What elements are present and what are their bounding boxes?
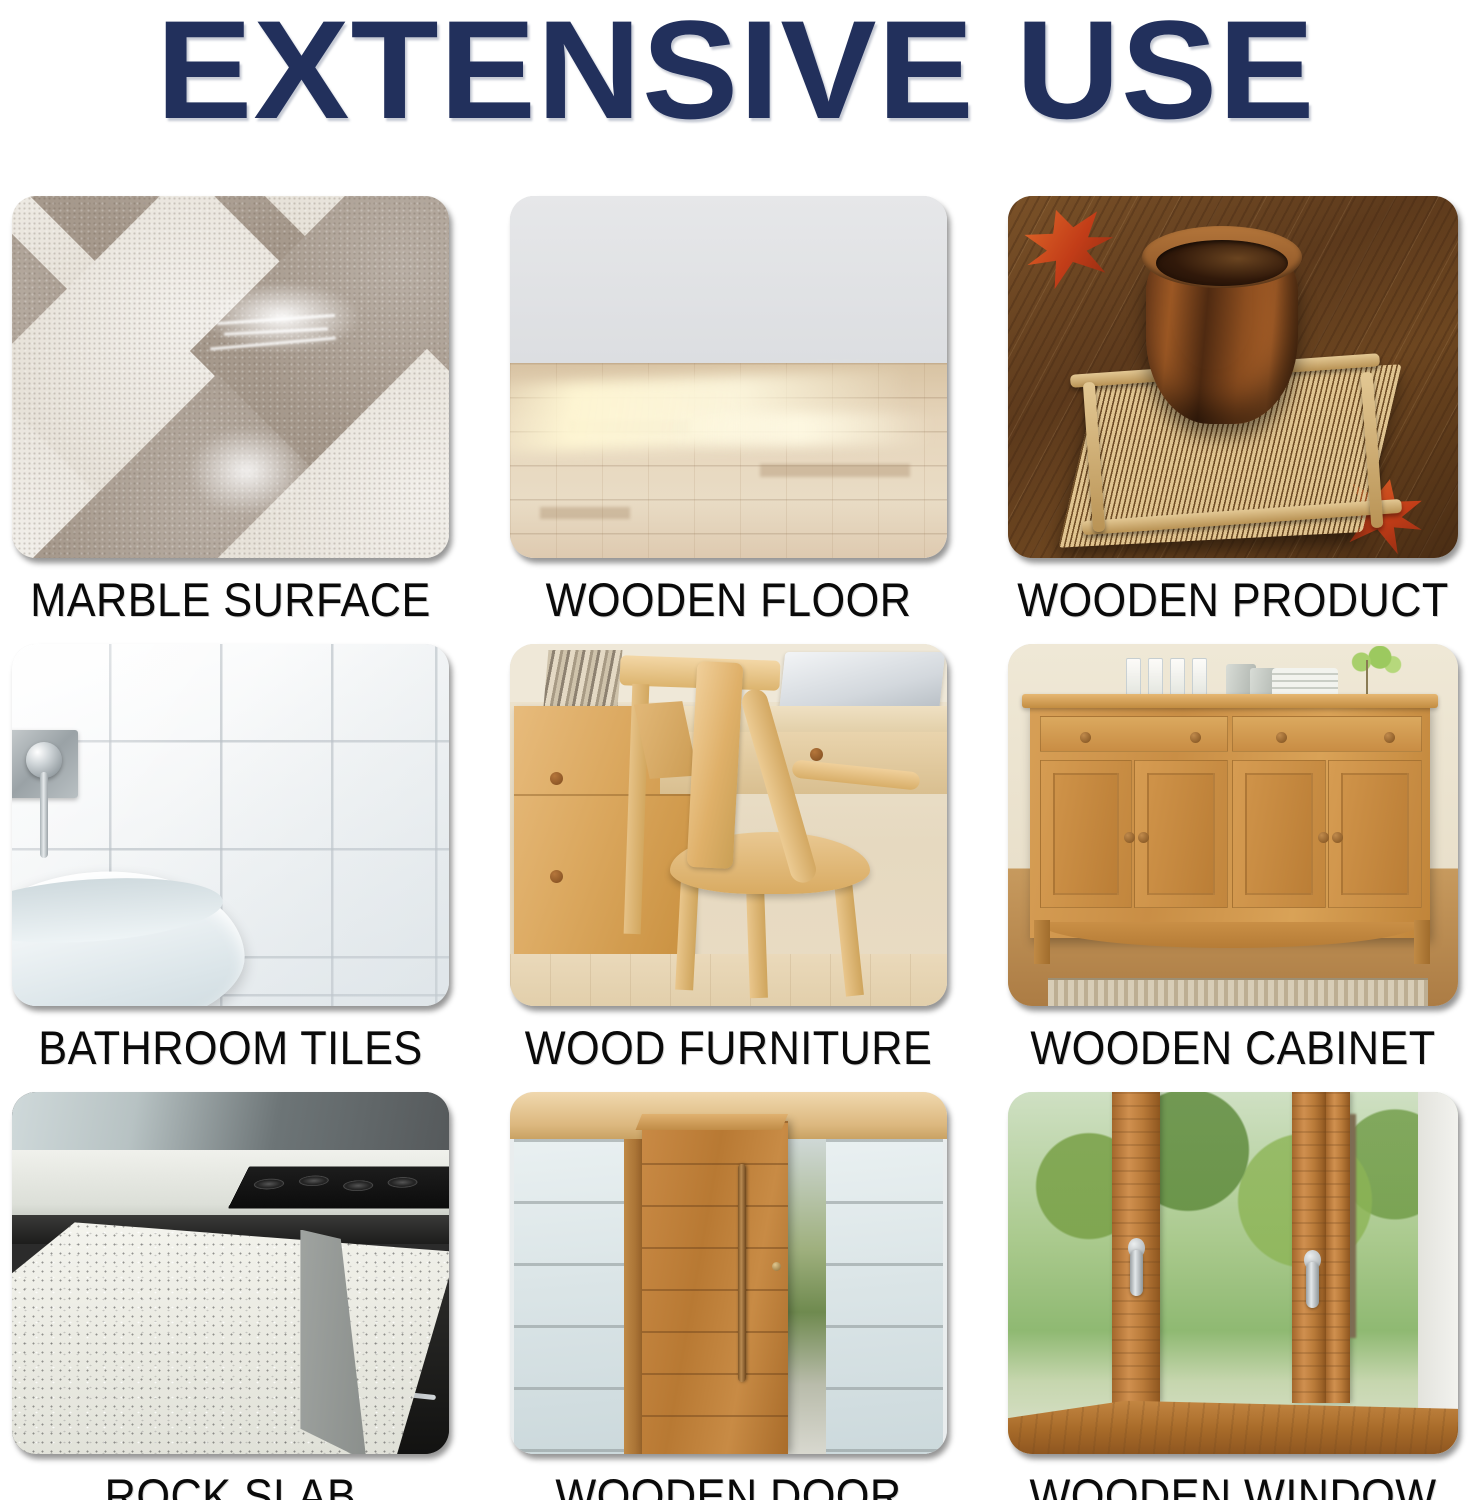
door-handle-bar bbox=[738, 1164, 746, 1381]
quartz-island-slab bbox=[12, 1222, 449, 1454]
plant-foliage bbox=[1344, 646, 1402, 678]
wooden-product-photo bbox=[1008, 196, 1458, 558]
wooden-door-panel bbox=[642, 1121, 788, 1454]
image-tile-wooden-door[interactable] bbox=[510, 1092, 947, 1454]
grid-cell-bathroom-tiles: BATHROOM TILES bbox=[12, 644, 449, 1076]
frosted-sidelight-left bbox=[514, 1139, 624, 1454]
infographic-page: EXTENSIVE USE bbox=[0, 0, 1471, 1500]
wall-surface bbox=[510, 196, 947, 363]
caption-wooden-product: WOODEN PRODUCT bbox=[1026, 570, 1440, 628]
outdoor-garden-view bbox=[1008, 1092, 1458, 1454]
door-top-edge bbox=[636, 1114, 788, 1130]
grid-cell-wooden-cabinet: WOODEN CABINET bbox=[1008, 644, 1458, 1076]
gas-cooktop bbox=[228, 1166, 449, 1208]
door-jamb-left bbox=[624, 1139, 644, 1454]
image-tile-wood-furniture[interactable] bbox=[510, 644, 947, 1006]
grid-cell-wood-furniture: WOOD FURNITURE bbox=[510, 644, 947, 1076]
frosted-sidelight-right bbox=[825, 1139, 943, 1454]
image-tile-wooden-window[interactable] bbox=[1008, 1092, 1458, 1454]
caption-wooden-cabinet: WOODEN CABINET bbox=[1026, 1018, 1440, 1076]
image-tile-marble-surface[interactable] bbox=[12, 196, 449, 558]
grid-cell-rock-slab: ROCK SLAB bbox=[12, 1092, 449, 1500]
image-tile-wooden-cabinet[interactable] bbox=[1008, 644, 1458, 1006]
wooden-cabinet-photo bbox=[1008, 644, 1458, 1006]
marble-floor-photo bbox=[12, 196, 449, 558]
grid-cell-wooden-window: WOODEN WINDOW bbox=[1008, 1092, 1458, 1500]
cup-liquid bbox=[1156, 240, 1288, 286]
grid-cell-marble-surface: MARBLE SURFACE bbox=[12, 196, 449, 628]
caption-wooden-window: WOODEN WINDOW bbox=[1026, 1466, 1440, 1500]
use-case-grid: MARBLE SURFACE WOODEN FLOOR bbox=[12, 196, 1459, 1500]
caption-wooden-floor: WOODEN FLOOR bbox=[527, 570, 929, 628]
interior-wall-strip bbox=[1418, 1092, 1459, 1454]
bathroom-tiles-photo bbox=[12, 644, 449, 1006]
cabinet-top-surface bbox=[1022, 694, 1438, 708]
window-frame-mullion-center bbox=[1292, 1092, 1326, 1403]
marble-highlight-lower bbox=[187, 426, 307, 516]
books-stack bbox=[544, 650, 623, 706]
caption-bathroom-tiles: BATHROOM TILES bbox=[29, 1018, 431, 1076]
wood-furniture-photo bbox=[510, 644, 947, 1006]
room-floor bbox=[510, 954, 947, 1006]
quartz-speckle-texture bbox=[12, 1222, 449, 1454]
cabinet-apron bbox=[1038, 922, 1422, 948]
grid-cell-wooden-product: WOODEN PRODUCT bbox=[1008, 196, 1458, 628]
caption-wooden-door: WOODEN DOOR bbox=[527, 1466, 929, 1500]
image-tile-bathroom-tiles[interactable] bbox=[12, 644, 449, 1006]
wooden-door-photo bbox=[510, 1092, 947, 1454]
window-frame-mullion-right bbox=[1326, 1092, 1350, 1403]
wooden-window-photo bbox=[1008, 1092, 1458, 1454]
image-tile-wooden-product[interactable] bbox=[1008, 196, 1458, 558]
wooden-floor-photo bbox=[510, 196, 947, 558]
title-bar: EXTENSIVE USE bbox=[0, 0, 1471, 140]
rock-slab-photo bbox=[12, 1092, 449, 1454]
caption-wood-furniture: WOOD FURNITURE bbox=[527, 1018, 929, 1076]
caption-rock-slab: ROCK SLAB bbox=[29, 1466, 431, 1500]
sunlight-streak-secondary bbox=[663, 413, 934, 446]
laptop-screen bbox=[779, 652, 946, 714]
grid-cell-wooden-door: WOODEN DOOR bbox=[510, 1092, 947, 1500]
faucet-spout bbox=[40, 772, 48, 858]
window-handle-right[interactable] bbox=[1306, 1262, 1319, 1308]
page-title: EXTENSIVE USE bbox=[156, 10, 1315, 130]
open-doorway-view bbox=[782, 1139, 826, 1454]
caption-marble-surface: MARBLE SURFACE bbox=[29, 570, 431, 628]
window-handle-left[interactable] bbox=[1130, 1250, 1143, 1296]
wooden-tea-cup bbox=[1146, 234, 1298, 424]
floor-rug bbox=[1048, 978, 1428, 1006]
grid-cell-wooden-floor: WOODEN FLOOR bbox=[510, 196, 947, 628]
image-tile-rock-slab[interactable] bbox=[12, 1092, 449, 1454]
image-tile-wooden-floor[interactable] bbox=[510, 196, 947, 558]
